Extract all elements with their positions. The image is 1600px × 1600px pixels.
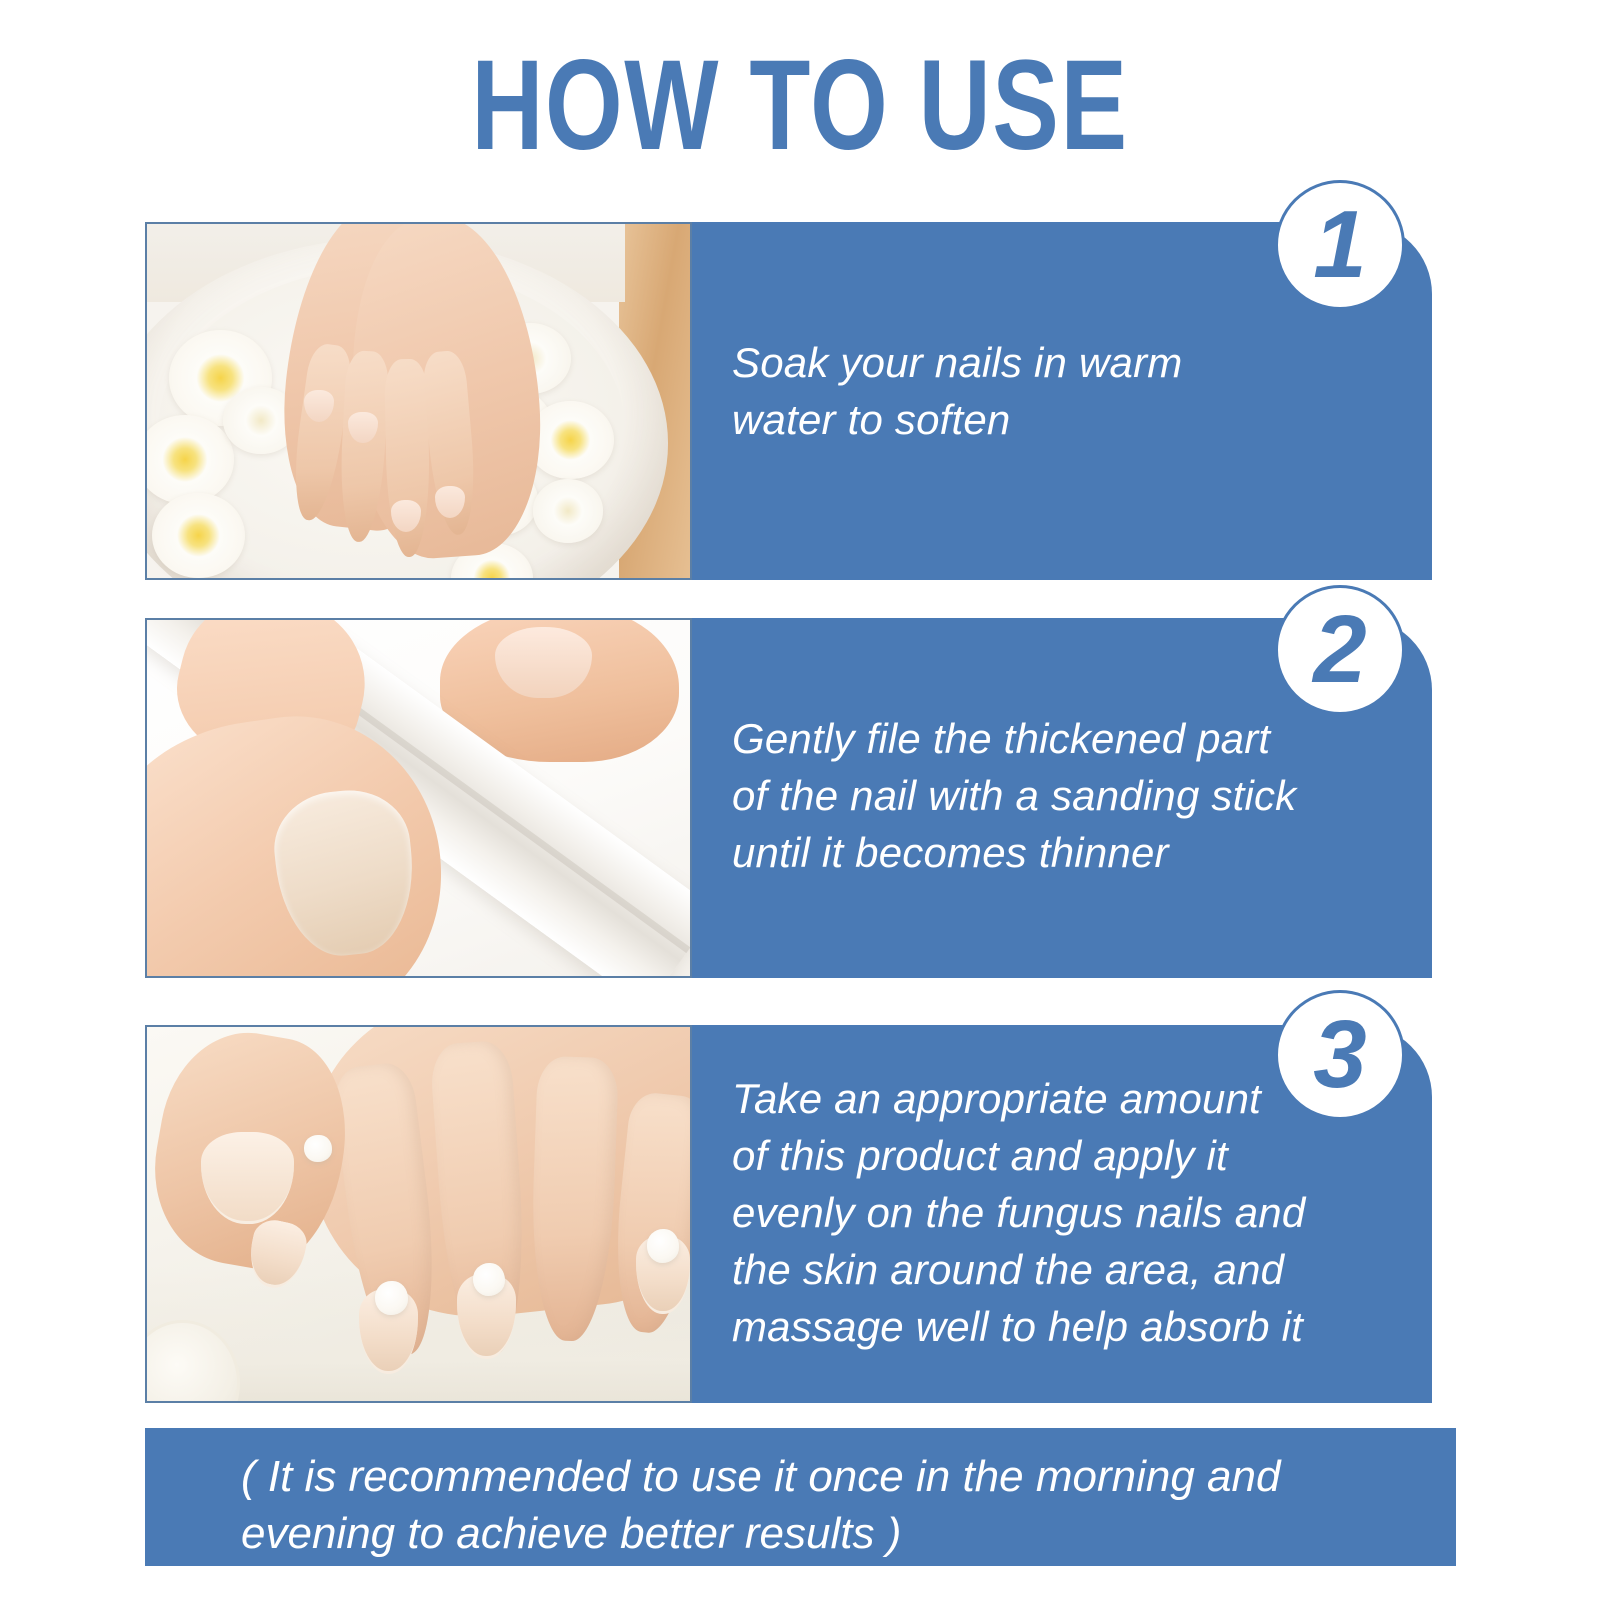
step-row-2: Gently file the thickened part of the na…	[145, 618, 1432, 978]
cream-dab	[473, 1263, 506, 1297]
step-1-text: Soak your nails in warm water to soften	[732, 334, 1432, 448]
flower-icon	[152, 493, 244, 578]
photo-hands-in-bowl	[147, 224, 690, 578]
step-2-text: Gently file the thickened part of the na…	[732, 710, 1472, 881]
step-3-photo	[145, 1025, 692, 1403]
step-number-badge-2: 2	[1275, 585, 1405, 715]
flower-icon	[533, 479, 604, 543]
footer-note-bar: ( It is recommended to use it once in th…	[145, 1428, 1456, 1566]
step-row-3: Take an appropriate amount of this produ…	[145, 1025, 1432, 1403]
cream-dab	[647, 1229, 680, 1263]
infographic-page: HOW TO USE	[0, 0, 1600, 1600]
footer-note-text: ( It is recommended to use it once in th…	[241, 1448, 1421, 1562]
step-1-photo	[145, 222, 692, 580]
cream-dab	[304, 1135, 331, 1161]
step-number-badge-3: 3	[1275, 990, 1405, 1120]
flower-icon	[527, 401, 614, 479]
step-row-1: Soak your nails in warm water to soften	[145, 222, 1432, 580]
step-number-badge-1: 1	[1275, 180, 1405, 310]
photo-filing-nail	[147, 620, 690, 976]
cream-dab	[375, 1281, 408, 1315]
step-2-photo	[145, 618, 692, 978]
photo-applying-cream	[147, 1027, 690, 1401]
page-title: HOW TO USE	[176, 36, 1424, 176]
